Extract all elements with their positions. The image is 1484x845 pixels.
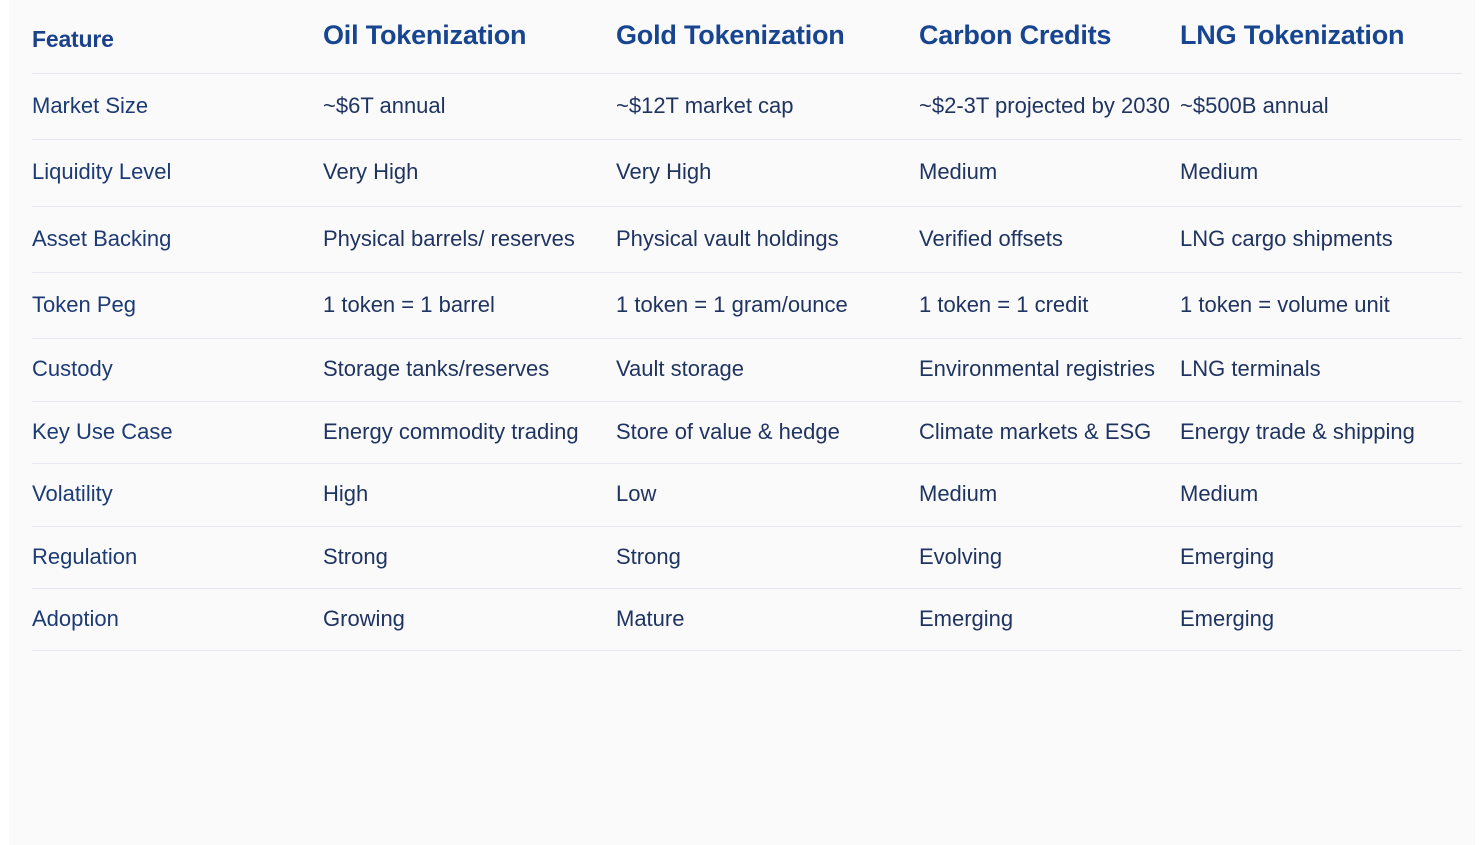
table-body: Market Size ~$6T annual ~$12T market cap… <box>32 74 1462 651</box>
table-row: Regulation Strong Strong Evolving Emergi… <box>32 526 1462 588</box>
row-label-market-size: Market Size <box>32 74 323 140</box>
row-label-key-use-case: Key Use Case <box>32 401 323 463</box>
cell-regulation-gold: Strong <box>616 526 919 588</box>
table-row: Market Size ~$6T annual ~$12T market cap… <box>32 74 1462 140</box>
cell-market-size-carbon: ~$2-3T projected by 2030 <box>919 74 1180 140</box>
cell-regulation-carbon: Evolving <box>919 526 1180 588</box>
cell-token-peg-carbon: 1 token = 1 credit <box>919 273 1180 339</box>
table-row: Token Peg 1 token = 1 barrel 1 token = 1… <box>32 273 1462 339</box>
column-header-gold-tokenization: Gold Tokenization <box>616 20 919 74</box>
table-row: Adoption Growing Mature Emerging Emergin… <box>32 588 1462 650</box>
cell-volatility-gold: Low <box>616 464 919 526</box>
cell-liquidity-level-gold: Very High <box>616 140 919 206</box>
cell-key-use-case-gold: Store of value & hedge <box>616 401 919 463</box>
row-label-regulation: Regulation <box>32 526 323 588</box>
cell-volatility-lng: Medium <box>1180 464 1462 526</box>
column-header-lng-tokenization: LNG Tokenization <box>1180 20 1462 74</box>
cell-custody-oil: Storage tanks/reserves <box>323 339 616 401</box>
cell-asset-backing-carbon: Verified offsets <box>919 206 1180 272</box>
row-label-token-peg: Token Peg <box>32 273 323 339</box>
cell-volatility-carbon: Medium <box>919 464 1180 526</box>
cell-adoption-gold: Mature <box>616 588 919 650</box>
column-header-feature: Feature <box>32 20 323 74</box>
table-row: Key Use Case Energy commodity trading St… <box>32 401 1462 463</box>
cell-token-peg-lng: 1 token = volume unit <box>1180 273 1462 339</box>
table-row: Custody Storage tanks/reserves Vault sto… <box>32 339 1462 401</box>
row-label-custody: Custody <box>32 339 323 401</box>
cell-token-peg-gold: 1 token = 1 gram/ounce <box>616 273 919 339</box>
row-label-liquidity-level: Liquidity Level <box>32 140 323 206</box>
column-header-carbon-credits: Carbon Credits <box>919 20 1180 74</box>
cell-liquidity-level-lng: Medium <box>1180 140 1462 206</box>
row-label-volatility: Volatility <box>32 464 323 526</box>
column-header-oil-tokenization: Oil Tokenization <box>323 20 616 74</box>
table-row: Asset Backing Physical barrels/ reserves… <box>32 206 1462 272</box>
page-root: Feature Oil Tokenization Gold Tokenizati… <box>0 0 1484 845</box>
table-row: Liquidity Level Very High Very High Medi… <box>32 140 1462 206</box>
cell-custody-carbon: Environmental registries <box>919 339 1180 401</box>
cell-adoption-carbon: Emerging <box>919 588 1180 650</box>
cell-asset-backing-oil: Physical barrels/ reserves <box>323 206 616 272</box>
comparison-table-panel: Feature Oil Tokenization Gold Tokenizati… <box>9 0 1475 845</box>
cell-regulation-lng: Emerging <box>1180 526 1462 588</box>
table-header: Feature Oil Tokenization Gold Tokenizati… <box>32 20 1462 74</box>
cell-liquidity-level-oil: Very High <box>323 140 616 206</box>
cell-market-size-lng: ~$500B annual <box>1180 74 1462 140</box>
tokenization-comparison-table: Feature Oil Tokenization Gold Tokenizati… <box>32 20 1462 651</box>
cell-volatility-oil: High <box>323 464 616 526</box>
cell-key-use-case-oil: Energy commodity trading <box>323 401 616 463</box>
cell-market-size-oil: ~$6T annual <box>323 74 616 140</box>
table-header-row: Feature Oil Tokenization Gold Tokenizati… <box>32 20 1462 74</box>
row-label-adoption: Adoption <box>32 588 323 650</box>
cell-adoption-lng: Emerging <box>1180 588 1462 650</box>
row-label-asset-backing: Asset Backing <box>32 206 323 272</box>
cell-liquidity-level-carbon: Medium <box>919 140 1180 206</box>
cell-custody-gold: Vault storage <box>616 339 919 401</box>
cell-asset-backing-gold: Physical vault holdings <box>616 206 919 272</box>
cell-regulation-oil: Strong <box>323 526 616 588</box>
cell-asset-backing-lng: LNG cargo shipments <box>1180 206 1462 272</box>
cell-key-use-case-carbon: Climate markets & ESG <box>919 401 1180 463</box>
cell-adoption-oil: Growing <box>323 588 616 650</box>
cell-market-size-gold: ~$12T market cap <box>616 74 919 140</box>
cell-key-use-case-lng: Energy trade & shipping <box>1180 401 1462 463</box>
table-row: Volatility High Low Medium Medium <box>32 464 1462 526</box>
cell-token-peg-oil: 1 token = 1 barrel <box>323 273 616 339</box>
cell-custody-lng: LNG terminals <box>1180 339 1462 401</box>
